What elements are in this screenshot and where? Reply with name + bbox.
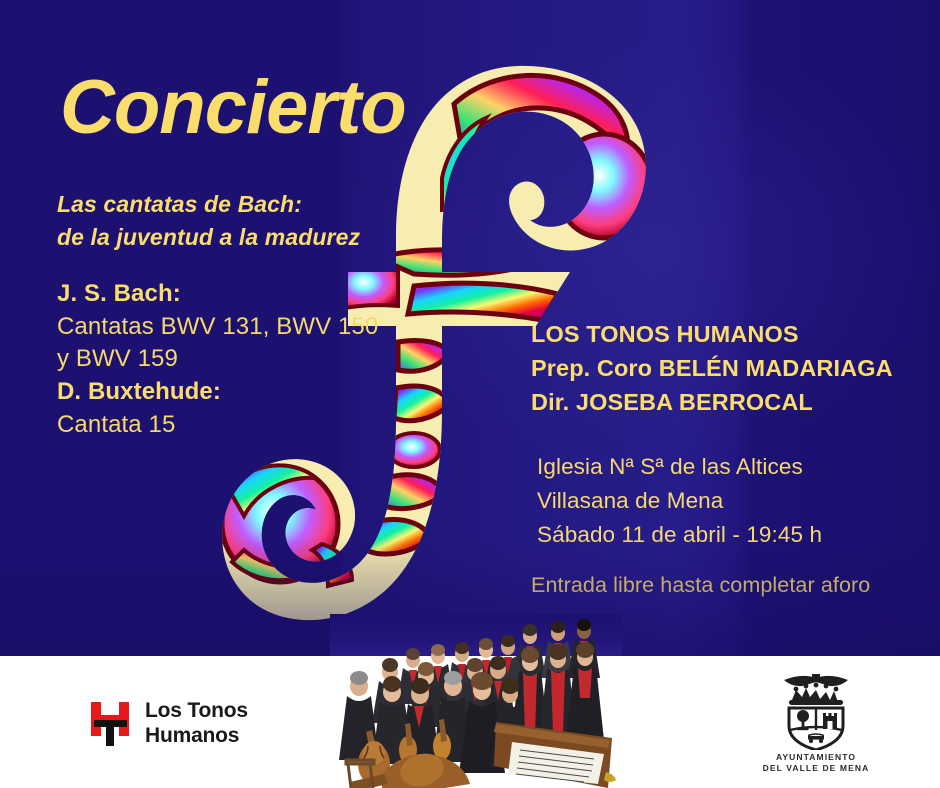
council-caption-line-2: DEL VALLE DE MENA (762, 763, 870, 774)
director-name: Dir. JOSEBA BERROCAL (531, 386, 893, 420)
ensemble-logo-line-1: Los Tonos (145, 698, 248, 723)
subtitle-line-2: de la juventud a la madurez (57, 221, 360, 254)
poster-title: Concierto (60, 70, 406, 146)
program-composer-buxtehude: D. Buxtehude: (57, 376, 378, 409)
program-works-bach-line-1: Cantatas BWV 131, BWV 150 (57, 311, 378, 344)
program-works-buxtehude: Cantata 15 (57, 409, 378, 442)
program-works-bach-line-2: y BWV 159 (57, 343, 378, 376)
subtitle-line-1: Las cantatas de Bach: (57, 188, 360, 221)
ensemble-logo-line-2: Humanos (145, 723, 248, 748)
performers-block: LOS TONOS HUMANOS Prep. Coro BELÉN MADAR… (531, 318, 893, 419)
ensemble-name: LOS TONOS HUMANOS (531, 318, 893, 352)
concert-poster: Concierto Las cantatas de Bach: de la ju… (0, 0, 940, 788)
venue-town: Villasana de Mena (537, 484, 822, 518)
poster-subtitle: Las cantatas de Bach: de la juventud a l… (57, 188, 360, 253)
poster-background: Concierto Las cantatas de Bach: de la ju… (0, 0, 940, 656)
ensemble-logo-wordmark: Los Tonos Humanos (145, 698, 248, 748)
venue-place: Iglesia Nª Sª de las Altices (537, 450, 822, 484)
council-logo: AYUNTAMIENTO DEL VALLE DE MENA (762, 672, 870, 776)
coat-of-arms-icon (762, 672, 870, 750)
chorus-preparation: Prep. Coro BELÉN MADARIAGA (531, 352, 893, 386)
entry-note: Entrada libre hasta completar aforo (531, 573, 870, 598)
program-list: J. S. Bach: Cantatas BWV 131, BWV 150 y … (57, 278, 378, 441)
choir-group-photo (330, 614, 622, 788)
program-composer-bach: J. S. Bach: (57, 278, 378, 311)
council-logo-caption: AYUNTAMIENTO DEL VALLE DE MENA (762, 752, 870, 774)
h-t-monogram-icon (88, 698, 134, 748)
council-caption-line-1: AYUNTAMIENTO (762, 752, 870, 763)
venue-block: Iglesia Nª Sª de las Altices Villasana d… (537, 450, 822, 551)
venue-datetime: Sábado 11 de abril - 19:45 h (537, 518, 822, 552)
ensemble-logo: Los Tonos Humanos (88, 698, 248, 748)
